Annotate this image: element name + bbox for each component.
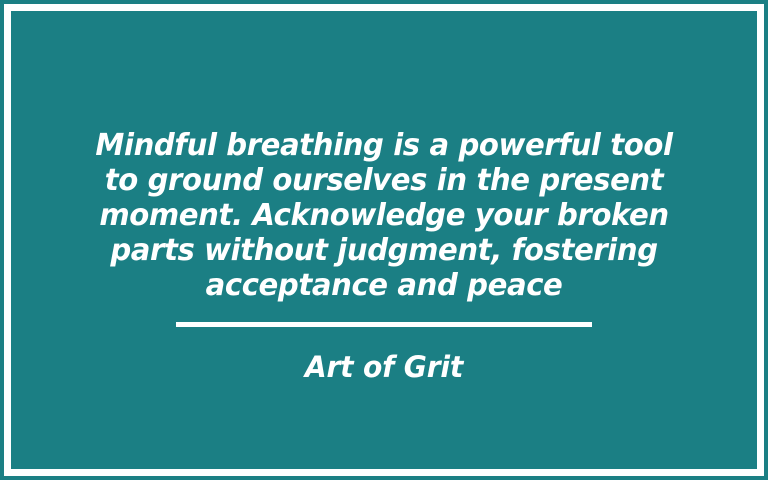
quote-text: Mindful breathing is a powerful tool to … <box>49 128 718 303</box>
card-inner-panel: Mindful breathing is a powerful tool to … <box>11 11 757 469</box>
attribution-container: Art of Grit <box>11 350 757 384</box>
attribution-label: Art of Grit <box>22 350 746 384</box>
divider-container <box>11 322 757 327</box>
card-white-frame: Mindful breathing is a powerful tool to … <box>4 4 764 476</box>
quote-card: Mindful breathing is a powerful tool to … <box>0 0 768 480</box>
horizontal-rule-divider <box>176 322 592 327</box>
quote-block: Mindful breathing is a powerful tool to … <box>11 128 757 303</box>
